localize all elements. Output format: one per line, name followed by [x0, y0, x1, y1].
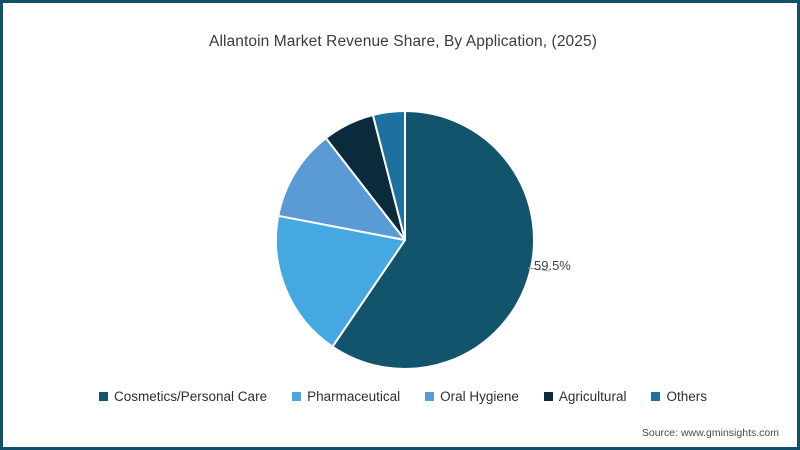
legend-label-cosmetics-personal-care: Cosmetics/Personal Care	[114, 390, 267, 404]
legend-item-pharmaceutical[interactable]: Pharmaceutical	[292, 390, 400, 404]
legend-item-oral-hygiene[interactable]: Oral Hygiene	[425, 390, 519, 404]
legend-item-cosmetics-personal-care[interactable]: Cosmetics/Personal Care	[99, 390, 267, 404]
legend-swatch-icon-agricultural	[544, 392, 553, 401]
chart-legend: Cosmetics/Personal Care Pharmaceutical O…	[3, 390, 800, 404]
slice-value-label-cosmetics-personal-care: 59.5%	[534, 258, 571, 273]
chart-figure: Allantoin Market Revenue Share, By Appli…	[0, 0, 800, 450]
legend-item-agricultural[interactable]: Agricultural	[544, 390, 627, 404]
legend-item-others[interactable]: Others	[651, 390, 707, 404]
pie-chart-svg	[3, 3, 800, 450]
legend-swatch-icon-oral-hygiene	[425, 392, 434, 401]
legend-label-agricultural: Agricultural	[559, 390, 627, 404]
legend-swatch-icon-others	[651, 392, 660, 401]
pie-slices	[276, 111, 534, 369]
legend-label-others: Others	[666, 390, 707, 404]
legend-swatch-icon-cosmetics-personal-care	[99, 392, 108, 401]
source-attribution: Source: www.gminsights.com	[642, 427, 779, 439]
pie-chart: 59.5%	[3, 3, 800, 450]
legend-label-oral-hygiene: Oral Hygiene	[440, 390, 519, 404]
legend-label-pharmaceutical: Pharmaceutical	[307, 390, 400, 404]
legend-swatch-icon-pharmaceutical	[292, 392, 301, 401]
